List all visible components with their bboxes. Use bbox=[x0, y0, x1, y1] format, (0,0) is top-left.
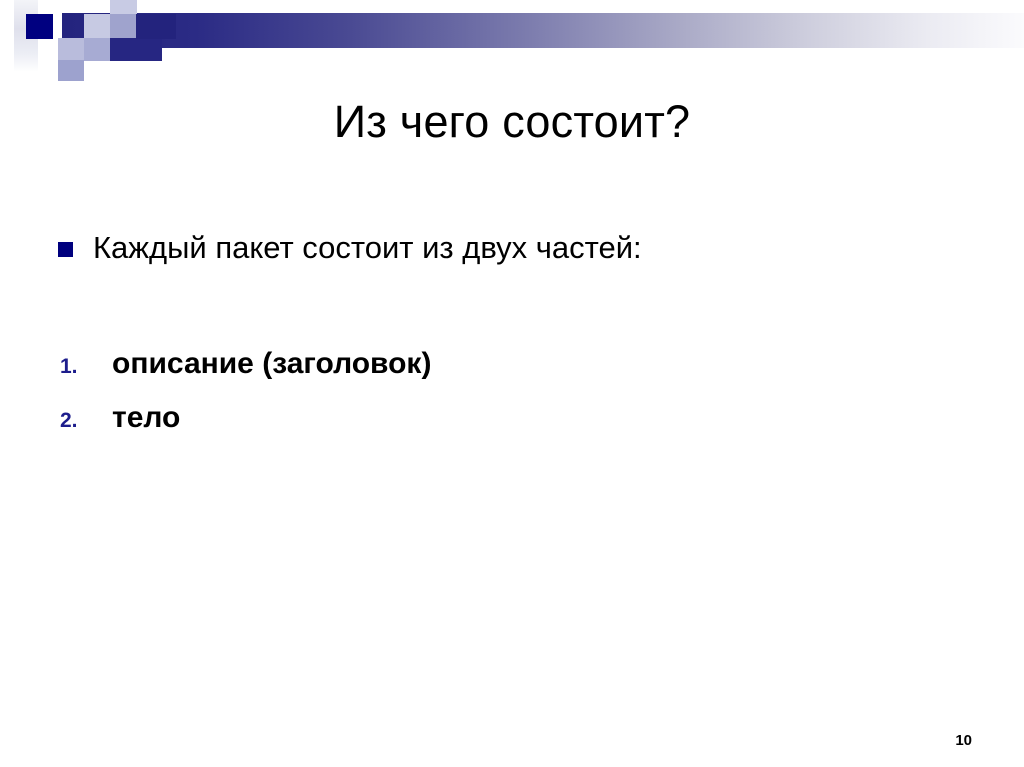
slide-body: Каждый пакет состоит из двух частей: 1. … bbox=[0, 228, 1024, 454]
square-bullet-icon bbox=[58, 242, 73, 257]
decor-square-navy-dark bbox=[26, 14, 53, 39]
numbered-item-label-2: тело bbox=[112, 400, 180, 436]
decor-square-navy-right bbox=[136, 14, 176, 39]
decor-square-pale-b bbox=[58, 60, 84, 81]
decor-square-navy-mid bbox=[110, 38, 162, 61]
decor-square-pale-e bbox=[110, 0, 137, 15]
page-number: 10 bbox=[955, 732, 972, 749]
numbered-list-item: 1. описание (заголовок) bbox=[0, 346, 1024, 382]
bullet-item-label: Каждый пакет состоит из двух частей: bbox=[93, 228, 642, 268]
list-number-2: 2. bbox=[60, 409, 112, 433]
numbered-list: 1. описание (заголовок) 2. тело bbox=[0, 346, 1024, 436]
bullet-item: Каждый пакет состоит из двух частей: bbox=[0, 228, 1024, 268]
slide-title: Из чего состоит? bbox=[0, 96, 1024, 148]
numbered-list-item: 2. тело bbox=[0, 400, 1024, 436]
decor-square-pale-f bbox=[110, 14, 137, 39]
decor-square-pale-d bbox=[84, 38, 111, 61]
decor-square-pale-a bbox=[58, 38, 84, 61]
header-decoration bbox=[0, 0, 1024, 80]
presentation-slide: Из чего состоит? Каждый пакет состоит из… bbox=[0, 0, 1024, 767]
numbered-item-label-1: описание (заголовок) bbox=[112, 346, 431, 382]
header-gradient-bar bbox=[62, 13, 1024, 48]
decor-square-pale-c bbox=[84, 14, 111, 39]
list-number-1: 1. bbox=[60, 355, 112, 379]
